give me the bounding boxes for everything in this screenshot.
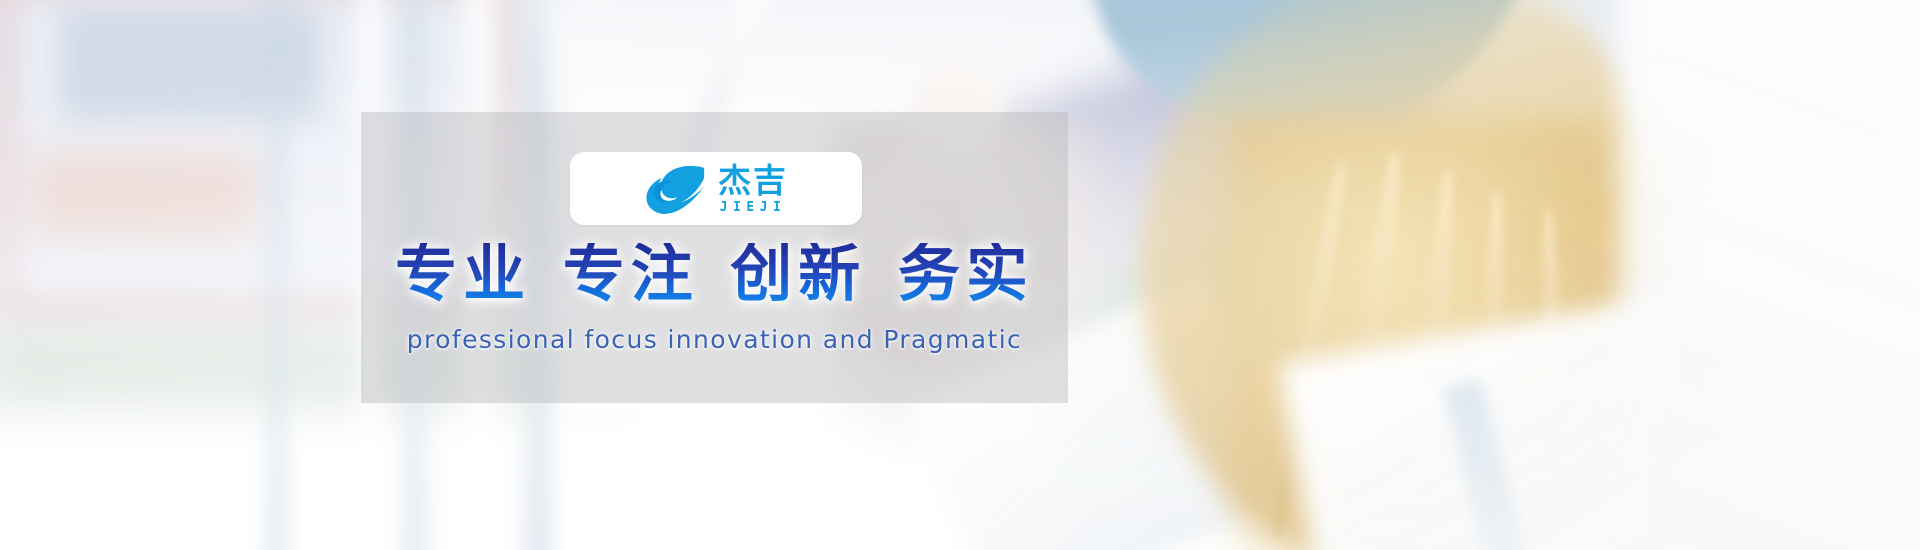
headline-word-3: 创新 xyxy=(728,237,868,310)
tagline: professional focus innovation and Pragma… xyxy=(361,325,1068,354)
logo-chinese-name: 杰吉 xyxy=(718,164,788,197)
headline-word-2: 专注 xyxy=(561,237,701,310)
logo-wordmark: 杰吉 JIEJI xyxy=(718,164,788,214)
equipment-column xyxy=(262,0,292,550)
white-coat-right xyxy=(1620,0,1920,550)
headline: 专业 专注 创新 务实 xyxy=(361,243,1068,305)
hero-banner: 杰吉 JIEJI 专业 专注 创新 务实 professional focus … xyxy=(0,0,1920,550)
headline-word-1: 专业 xyxy=(393,237,533,310)
headline-word-4: 务实 xyxy=(896,237,1036,310)
logo-pinyin: JIEJI xyxy=(720,201,787,214)
clinic-warm-blur xyxy=(30,150,260,240)
brand-logo[interactable]: 杰吉 JIEJI xyxy=(570,152,862,225)
jieji-swirl-mark xyxy=(644,160,706,218)
